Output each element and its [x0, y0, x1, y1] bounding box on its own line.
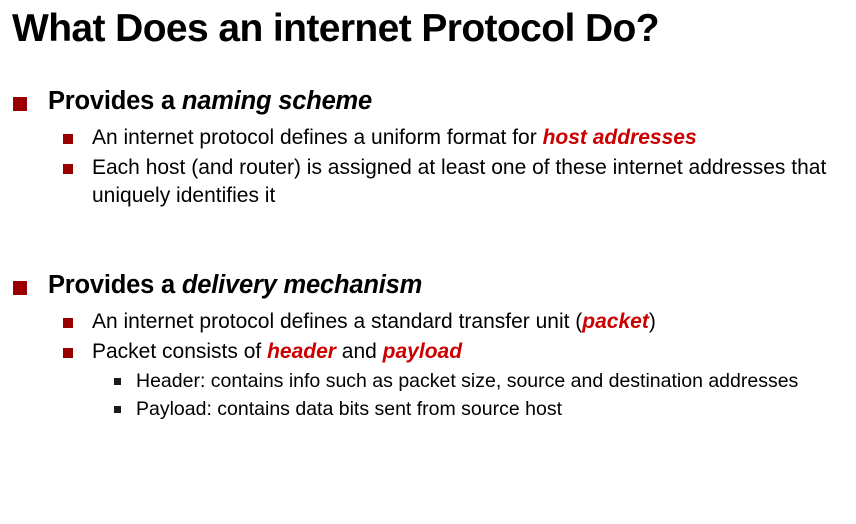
- list-item: Payload: contains data bits sent from so…: [0, 396, 856, 422]
- bullet-text-mid: and: [336, 340, 383, 363]
- square-bullet-icon: [13, 281, 27, 295]
- section-2-heading-italic: delivery mechanism: [182, 271, 422, 299]
- square-bullet-icon: [63, 134, 73, 144]
- bullet-highlight: packet: [582, 310, 649, 333]
- square-bullet-icon: [13, 97, 27, 111]
- subbullet-text: Header: contains info such as packet siz…: [136, 370, 798, 392]
- slide-canvas: What Does an internet Protocol Do? Provi…: [0, 0, 856, 524]
- section-1-heading: Provides a naming scheme: [0, 84, 856, 118]
- bullet-text: Each host (and router) is assigned at le…: [92, 156, 826, 207]
- square-bullet-icon: [63, 318, 73, 328]
- bullet-highlight-2: payload: [383, 340, 462, 363]
- square-bullet-icon: [114, 406, 121, 413]
- slide-body: Provides a naming scheme An internet pro…: [0, 84, 856, 424]
- list-item: Packet consists of header and payload: [0, 338, 856, 366]
- section-2-heading-plain: Provides a: [48, 271, 182, 299]
- bullet-text: An internet protocol defines a uniform f…: [92, 126, 543, 149]
- section-gap: [0, 212, 856, 268]
- bullet-text: An internet protocol defines a standard …: [92, 310, 582, 333]
- subbullet-text: Payload: contains data bits sent from so…: [136, 398, 562, 420]
- bullet-text: Packet consists of: [92, 340, 267, 363]
- bullet-text-post: ): [649, 310, 656, 333]
- section-1-heading-plain: Provides a: [48, 87, 182, 115]
- square-bullet-icon: [63, 348, 73, 358]
- list-item: Each host (and router) is assigned at le…: [0, 154, 856, 210]
- section-2-heading: Provides a delivery mechanism: [0, 268, 856, 302]
- square-bullet-icon: [114, 378, 121, 385]
- page-title: What Does an internet Protocol Do?: [12, 6, 842, 52]
- list-item: An internet protocol defines a uniform f…: [0, 124, 856, 152]
- bullet-highlight: host addresses: [543, 126, 697, 149]
- list-item: Header: contains info such as packet siz…: [0, 368, 856, 394]
- list-item: An internet protocol defines a standard …: [0, 308, 856, 336]
- square-bullet-icon: [63, 164, 73, 174]
- bullet-highlight: header: [267, 340, 336, 363]
- section-1-heading-italic: naming scheme: [182, 87, 372, 115]
